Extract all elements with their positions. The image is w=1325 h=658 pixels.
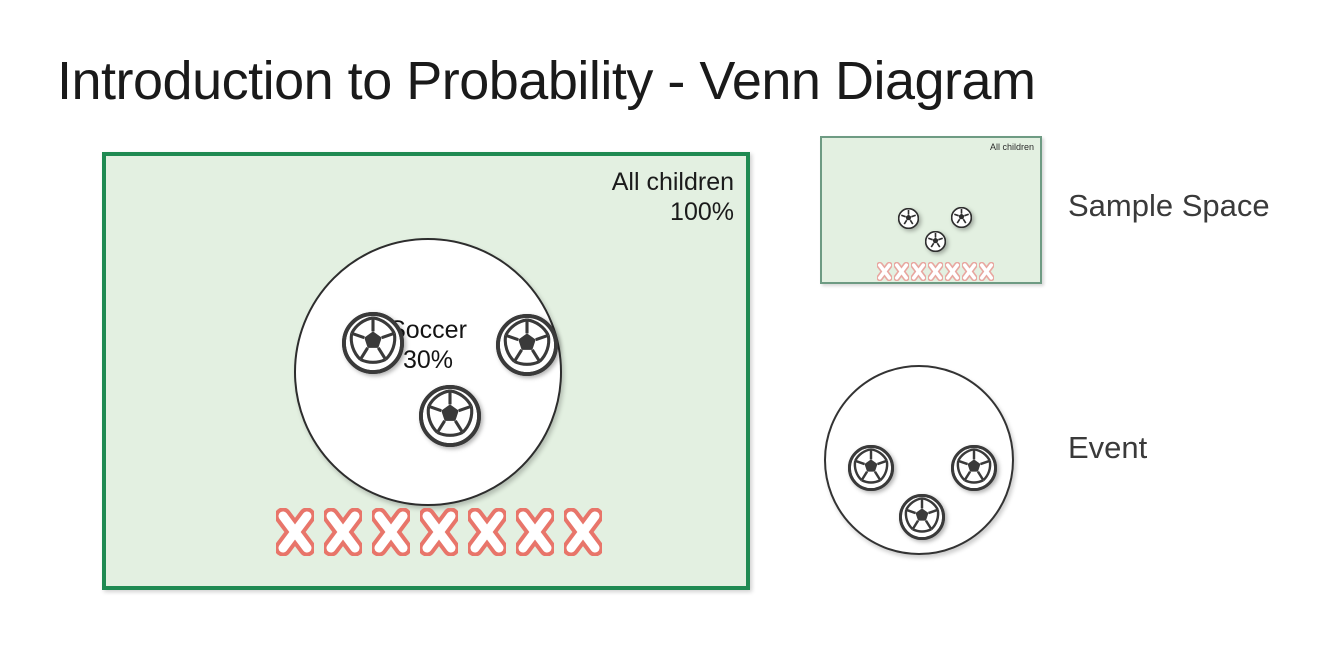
mini-x-mark-icon (979, 262, 994, 281)
non-event-x-row (276, 508, 602, 556)
sample-space-rectangle: All children 100% Soccer 30% (102, 152, 750, 590)
x-mark-icon (564, 508, 602, 556)
x-mark-icon (468, 508, 506, 556)
soccer-ball-left (342, 312, 404, 374)
mini-x-mark-icon (928, 262, 943, 281)
mini-x-mark-icon (894, 262, 909, 281)
event-soccer-ball-right (951, 445, 997, 491)
sample-space-label: All children 100% (612, 168, 734, 227)
x-mark-icon (420, 508, 458, 556)
legend-sample-space-thumbnail: All children (820, 136, 1042, 284)
mini-soccer-ball-left (898, 208, 919, 229)
mini-soccer-ball-bottom (925, 231, 946, 252)
event-soccer-ball-left (848, 445, 894, 491)
x-mark-icon (372, 508, 410, 556)
soccer-ball-right (496, 314, 558, 376)
x-mark-icon (324, 508, 362, 556)
x-mark-icon (276, 508, 314, 556)
mini-x-mark-icon (911, 262, 926, 281)
mini-x-mark-icon (945, 262, 960, 281)
legend-label-sample-space: Sample Space (1068, 188, 1270, 224)
x-mark-icon (516, 508, 554, 556)
mini-non-event-x-row (877, 262, 994, 281)
event-circle: Soccer 30% (294, 238, 562, 506)
legend-label-event: Event (1068, 430, 1147, 466)
page-title: Introduction to Probability - Venn Diagr… (57, 52, 1036, 111)
mini-sample-space-label: All children (990, 142, 1034, 152)
mini-soccer-ball-right (951, 207, 972, 228)
slide-canvas: Introduction to Probability - Venn Diagr… (0, 0, 1325, 658)
soccer-ball-bottom (419, 385, 481, 447)
mini-x-mark-icon (962, 262, 977, 281)
event-soccer-ball-bottom (899, 494, 945, 540)
legend-event-circle (824, 365, 1014, 555)
mini-x-mark-icon (877, 262, 892, 281)
